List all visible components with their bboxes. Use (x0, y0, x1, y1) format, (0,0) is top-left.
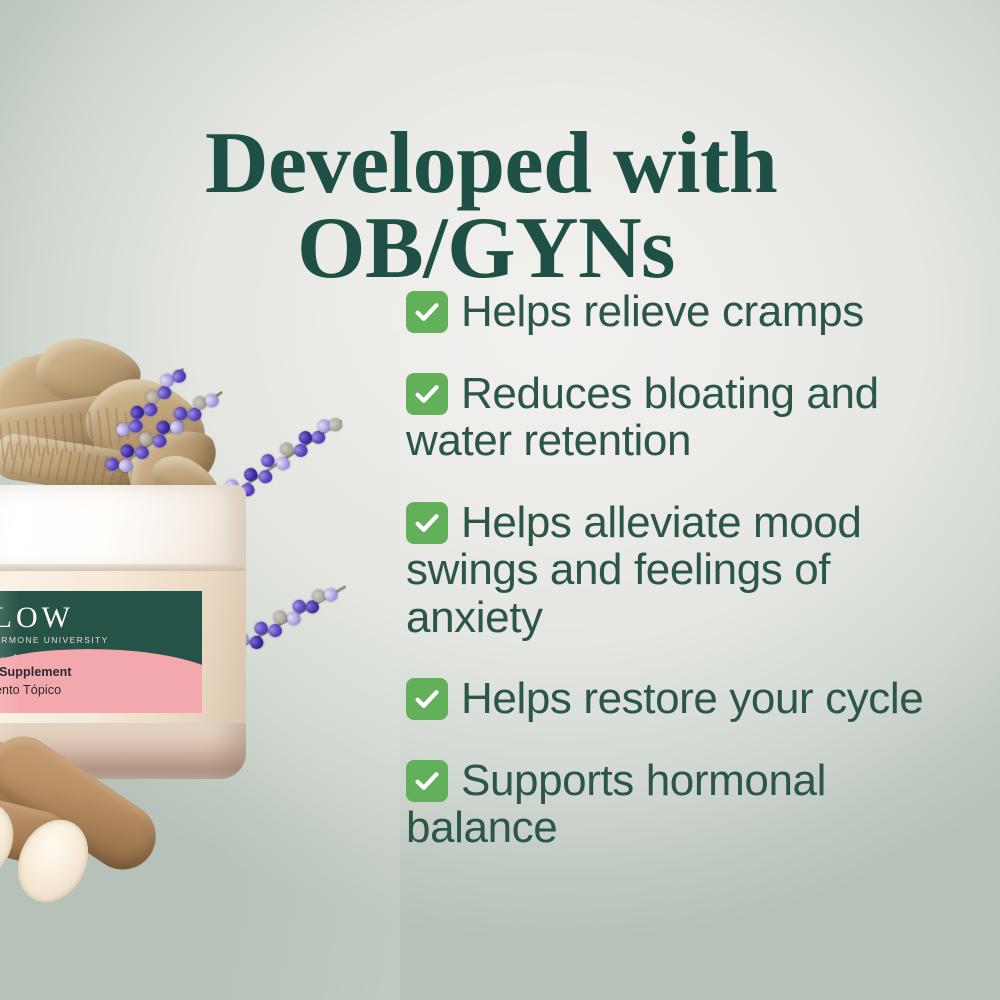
check-mark-icon (406, 373, 448, 415)
benefit-item: Helps restore your cycle (406, 675, 976, 723)
benefit-item: Helps relieve cramps (406, 288, 976, 336)
check-mark-icon (406, 678, 448, 720)
benefits-list: Helps relieve crampsReduces bloating and… (406, 288, 976, 852)
benefit-item: Helps alleviate mood swings and feelings… (406, 499, 976, 642)
product-photo-composition: GLOW BY HORMONE UNIVERSITY Period SOS To… (0, 330, 400, 1000)
benefit-label: Supports hormonal balance (406, 756, 826, 853)
product-marketing-image: GLOW BY HORMONE UNIVERSITY Period SOS To… (0, 0, 1000, 1000)
brand-subtitle: BY HORMONE UNIVERSITY (0, 636, 202, 645)
check-mark-icon (406, 760, 448, 802)
benefit-label: Helps restore your cycle (461, 674, 923, 723)
jar-label: GLOW BY HORMONE UNIVERSITY Period SOS To… (0, 591, 202, 713)
benefit-item: Reduces bloating and water retention (406, 370, 976, 465)
check-mark-icon (406, 502, 448, 544)
descriptor-english: Topical Supplement (0, 665, 72, 679)
benefit-label: Helps relieve cramps (461, 287, 864, 336)
page-title: Developed with OB/GYNs (205, 121, 965, 292)
jar-lid (0, 485, 246, 573)
headline-line-1: Developed with (205, 121, 965, 206)
headline-line-2: OB/GYNs (297, 206, 965, 291)
benefit-label: Reduces bloating and water retention (406, 369, 879, 466)
benefit-label: Helps alleviate mood swings and feelings… (406, 498, 861, 642)
check-mark-icon (406, 291, 448, 333)
benefit-item: Supports hormonal balance (406, 757, 976, 852)
descriptor-spanish: Suplemento Tópico (0, 683, 61, 697)
brand-name: GLOW (0, 603, 202, 633)
